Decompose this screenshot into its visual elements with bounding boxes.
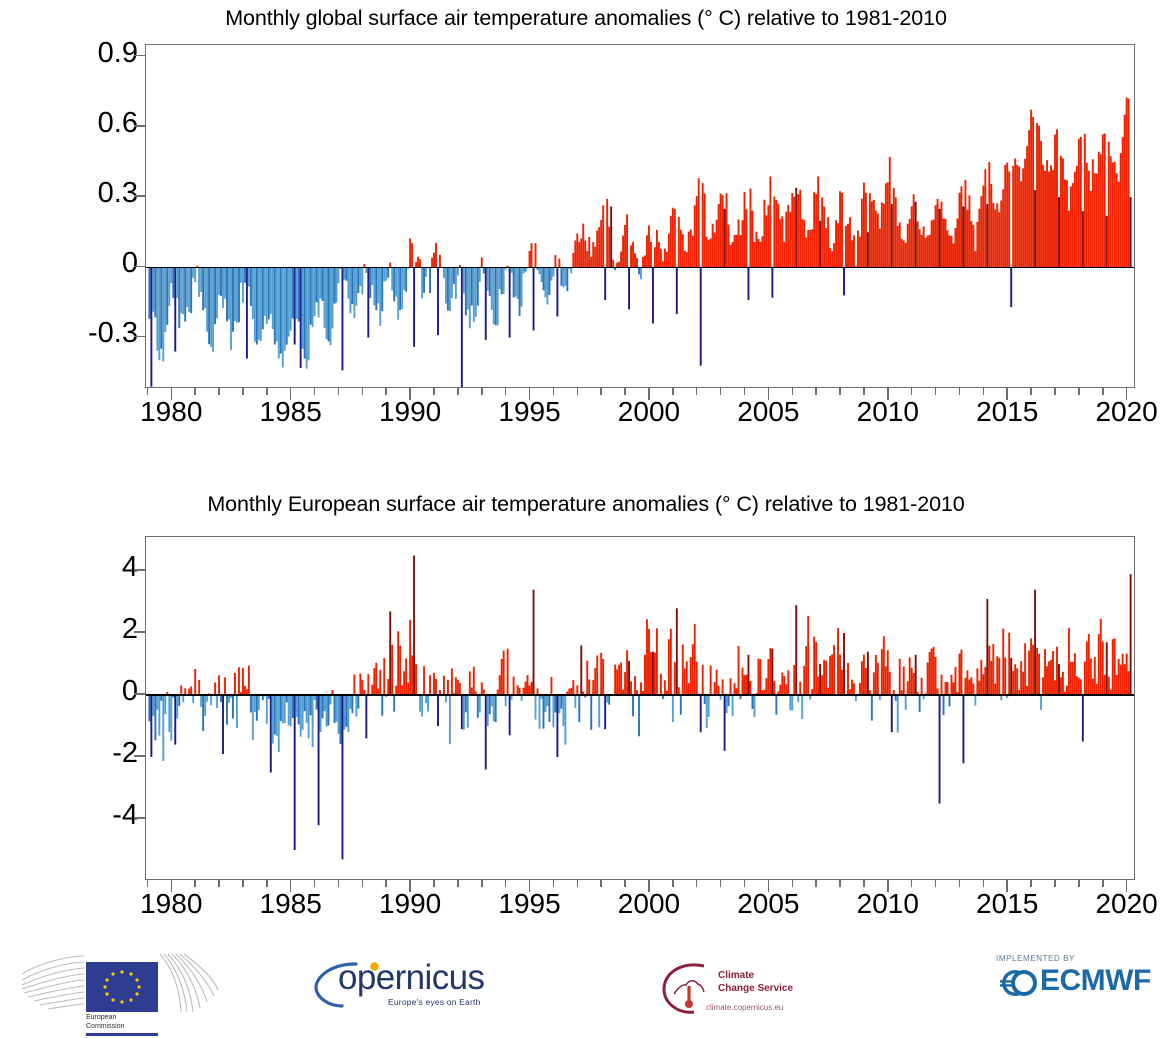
bar xyxy=(626,214,628,267)
bar xyxy=(773,681,775,695)
bar xyxy=(925,238,927,268)
bar xyxy=(449,695,451,744)
bar xyxy=(272,267,274,329)
bar xyxy=(574,240,576,267)
bar xyxy=(1062,158,1064,267)
bar xyxy=(1130,574,1132,695)
bar xyxy=(871,695,873,721)
bar xyxy=(256,267,258,344)
bar xyxy=(953,682,955,695)
bar xyxy=(541,267,543,282)
bar xyxy=(1030,638,1032,695)
global-plot-area xyxy=(145,44,1135,388)
bar xyxy=(1014,664,1016,695)
c3s-url[interactable]: climate.copernicus.eu xyxy=(706,1003,783,1012)
bar xyxy=(990,661,992,695)
bar xyxy=(533,267,535,330)
eu-stars-icon xyxy=(86,962,158,1012)
bar xyxy=(224,267,226,298)
bar xyxy=(889,157,891,267)
bar xyxy=(626,650,628,695)
bar xyxy=(674,209,676,267)
global-xtick-minor xyxy=(457,388,459,395)
europe-xtick-minor xyxy=(385,880,387,887)
bar xyxy=(403,267,405,290)
global-xtick-minor xyxy=(553,388,555,395)
bar xyxy=(939,209,941,268)
bar xyxy=(401,267,403,309)
copernicus-wordmark: opernicus xyxy=(338,958,484,998)
bar xyxy=(336,267,338,302)
bar xyxy=(226,695,228,725)
bar xyxy=(668,233,670,267)
bar xyxy=(481,682,483,695)
bar xyxy=(859,683,861,695)
bar xyxy=(467,695,469,728)
bar xyxy=(1096,174,1098,268)
bar xyxy=(953,243,955,267)
bar xyxy=(1100,154,1102,267)
bar xyxy=(535,695,537,719)
ecmwf-logo: IMPLEMENTED BY ECMWF xyxy=(992,954,1162,1014)
bar xyxy=(306,267,308,368)
bar xyxy=(166,267,168,325)
bar xyxy=(817,677,819,695)
bar xyxy=(188,267,190,312)
bar xyxy=(306,695,308,723)
bar xyxy=(377,267,379,303)
bar xyxy=(775,695,777,715)
bar xyxy=(184,267,186,321)
europe-xtick-minor xyxy=(1078,880,1080,887)
bar xyxy=(857,231,859,268)
bar xyxy=(580,238,582,267)
bar xyxy=(562,267,564,287)
bar xyxy=(576,233,578,267)
europe-ytick-label: -4 xyxy=(0,799,138,832)
bar xyxy=(483,267,485,273)
bar xyxy=(1074,653,1076,695)
bar xyxy=(905,695,907,710)
bar xyxy=(592,680,594,695)
bar xyxy=(604,695,606,729)
bar xyxy=(284,695,286,723)
bar xyxy=(807,230,809,267)
global-xtick-minor xyxy=(600,388,602,395)
bar xyxy=(375,267,377,310)
bar xyxy=(1106,216,1108,267)
bar xyxy=(980,196,982,267)
bar xyxy=(469,671,471,695)
bar xyxy=(887,182,889,267)
bar xyxy=(807,616,809,695)
bar xyxy=(913,194,915,267)
bar xyxy=(421,695,423,716)
bar xyxy=(324,267,326,328)
bar xyxy=(951,236,953,267)
bar xyxy=(949,695,951,706)
europe-xtick-minor xyxy=(338,880,340,887)
bar xyxy=(688,232,690,268)
bar xyxy=(817,177,819,268)
bar xyxy=(650,652,652,695)
bar xyxy=(473,267,475,321)
bar xyxy=(907,224,909,268)
bar xyxy=(513,677,515,696)
bar xyxy=(1060,156,1062,268)
bar xyxy=(793,665,795,695)
bar xyxy=(393,267,395,301)
bar xyxy=(1008,633,1010,695)
bar xyxy=(274,695,276,735)
bar xyxy=(584,241,586,268)
bar xyxy=(312,695,314,747)
bar xyxy=(1062,672,1064,695)
bar xyxy=(620,663,622,696)
bar xyxy=(192,267,194,277)
bar xyxy=(1080,679,1082,695)
global-xtick-minor xyxy=(815,388,817,395)
bar xyxy=(340,695,342,744)
bar xyxy=(545,267,547,297)
bar xyxy=(451,267,453,298)
europe-xtick-minor xyxy=(577,880,579,887)
bar xyxy=(338,695,340,734)
bar xyxy=(228,695,230,703)
bar xyxy=(328,267,330,341)
bar xyxy=(250,267,252,306)
bar xyxy=(535,243,537,267)
bar xyxy=(1058,197,1060,267)
bar xyxy=(236,267,238,322)
europe-ytick-label: 4 xyxy=(0,551,138,584)
bar xyxy=(1052,170,1054,267)
europe-xtick-minor xyxy=(218,880,220,887)
europe-xtick-minor xyxy=(1054,880,1056,887)
bar xyxy=(254,267,256,341)
bar xyxy=(968,679,970,695)
bar xyxy=(903,240,905,267)
europe-plot-inner xyxy=(146,537,1134,879)
bar xyxy=(941,675,943,696)
bar xyxy=(839,654,841,695)
europe-xtick-minor xyxy=(911,880,913,887)
bar xyxy=(1124,664,1126,695)
global-xtick-minor xyxy=(194,388,196,395)
bar xyxy=(600,653,602,695)
bar xyxy=(879,229,881,268)
bar xyxy=(598,695,600,727)
bar xyxy=(654,247,656,267)
bar xyxy=(998,658,1000,695)
global-xtick-minor xyxy=(672,388,674,395)
ecmwf-prefix: IMPLEMENTED BY xyxy=(996,954,1075,963)
bar xyxy=(700,695,702,732)
bar xyxy=(413,556,415,695)
bar xyxy=(443,267,445,278)
bar xyxy=(268,267,270,319)
bar xyxy=(765,678,767,695)
bar xyxy=(411,655,413,695)
bar xyxy=(1038,126,1040,268)
bar xyxy=(485,695,487,769)
bar xyxy=(672,208,674,268)
bar xyxy=(716,670,718,695)
bar xyxy=(742,220,744,267)
bar xyxy=(855,695,857,701)
bar xyxy=(1116,675,1118,695)
bar xyxy=(873,672,875,695)
bar xyxy=(757,659,759,695)
bar xyxy=(266,267,268,324)
ec-flourish-right-icon xyxy=(160,952,218,1014)
bar xyxy=(734,235,736,267)
bar xyxy=(471,267,473,305)
bar xyxy=(389,611,391,695)
bar xyxy=(547,695,549,706)
bar xyxy=(280,695,282,721)
bar xyxy=(499,267,501,289)
bar xyxy=(1016,165,1018,268)
bar xyxy=(660,249,662,268)
bar xyxy=(180,267,182,313)
bar xyxy=(819,221,821,268)
bar xyxy=(198,680,200,695)
bar xyxy=(148,695,150,721)
bar xyxy=(1028,130,1030,267)
bar xyxy=(630,245,632,267)
bar xyxy=(933,647,935,695)
bar xyxy=(186,267,188,307)
european-commission-label: European Commission xyxy=(86,1014,125,1031)
bar xyxy=(365,695,367,738)
bar xyxy=(1068,211,1070,268)
bar xyxy=(909,657,911,695)
bar xyxy=(921,678,923,695)
bar xyxy=(242,267,244,302)
bar xyxy=(461,695,463,729)
bar xyxy=(351,695,353,713)
bar xyxy=(347,267,349,298)
bar xyxy=(282,695,284,723)
bar xyxy=(821,675,823,695)
bar xyxy=(1070,662,1072,695)
europe-xtick-label: 1995 xyxy=(470,888,590,920)
bar xyxy=(769,648,771,695)
bar xyxy=(861,199,863,268)
bar xyxy=(345,267,347,280)
global-ytick-mark xyxy=(134,266,145,268)
bar xyxy=(686,252,688,267)
bar xyxy=(726,695,728,713)
bar xyxy=(548,695,550,722)
bar xyxy=(594,247,596,268)
bar xyxy=(298,267,300,321)
bar xyxy=(503,651,505,696)
bar xyxy=(574,695,576,708)
bar xyxy=(1010,658,1012,695)
bar xyxy=(174,267,176,351)
bar xyxy=(1078,678,1080,695)
bar xyxy=(531,682,533,695)
bar xyxy=(970,677,972,695)
bar xyxy=(905,243,907,268)
bar xyxy=(509,267,511,337)
bar xyxy=(208,267,210,344)
bar xyxy=(278,695,280,752)
bar xyxy=(172,267,174,298)
bar xyxy=(825,661,827,695)
bar xyxy=(590,695,592,730)
europe-xtick-minor xyxy=(266,880,268,887)
bar xyxy=(1056,129,1058,267)
bar xyxy=(913,673,915,695)
bar xyxy=(732,695,734,716)
bar xyxy=(1078,139,1080,268)
bar xyxy=(332,267,334,328)
bar xyxy=(375,663,377,695)
bar xyxy=(206,695,208,702)
c3s-logo: Climate Change Service climate.copernicu… xyxy=(660,952,870,1022)
bar xyxy=(314,267,316,316)
bar xyxy=(1122,137,1124,267)
global-xtick-minor xyxy=(792,388,794,395)
bar xyxy=(728,695,730,706)
bar xyxy=(628,267,630,309)
bar xyxy=(539,695,541,729)
bar xyxy=(517,267,519,299)
bar xyxy=(935,657,937,695)
bar xyxy=(986,204,988,267)
bar xyxy=(1116,173,1118,267)
bar xyxy=(248,267,250,286)
bar xyxy=(966,670,968,695)
copernicus-tagline: Europe's eyes on Earth xyxy=(388,997,481,1007)
global-xtick-label: 2010 xyxy=(828,396,948,428)
europe-xtick-label: 1980 xyxy=(111,888,231,920)
copernicus-logo: opernicus Europe's eyes on Earth xyxy=(312,954,492,1016)
bar xyxy=(453,267,455,284)
bar xyxy=(624,225,626,268)
bar xyxy=(974,695,976,706)
c3s-label-line1: Climate xyxy=(718,970,754,981)
bar xyxy=(881,649,883,695)
bar xyxy=(740,235,742,267)
bar xyxy=(1094,173,1096,267)
bar xyxy=(1022,168,1024,267)
bar xyxy=(214,267,216,324)
bar xyxy=(702,183,704,267)
global-xtick-minor xyxy=(624,388,626,395)
bar xyxy=(722,679,724,695)
bar xyxy=(232,695,234,718)
bar xyxy=(815,194,817,268)
bar xyxy=(1100,619,1102,695)
bar xyxy=(684,251,686,268)
europe-xtick-minor xyxy=(194,880,196,887)
bar xyxy=(170,695,172,741)
bar xyxy=(921,235,923,268)
global-xtick-minor xyxy=(839,388,841,395)
bar xyxy=(821,197,823,267)
bar xyxy=(250,695,252,712)
bar xyxy=(947,682,949,695)
bar xyxy=(833,645,835,695)
europe-ytick-mark xyxy=(134,569,145,571)
bar xyxy=(359,674,361,696)
bar xyxy=(369,267,371,298)
ec-label-line1: European xyxy=(86,1014,125,1023)
europe-xtick-minor xyxy=(696,880,698,887)
bar xyxy=(523,267,525,273)
global-chart-title: Monthly global surface air temperature a… xyxy=(0,6,1172,31)
bar xyxy=(288,267,290,336)
bar xyxy=(1040,141,1042,267)
bar xyxy=(162,267,164,361)
bar xyxy=(288,695,290,725)
global-ytick-mark xyxy=(134,125,145,127)
bar xyxy=(883,204,885,268)
bar xyxy=(891,204,893,267)
bar xyxy=(996,203,998,267)
bar xyxy=(234,267,236,321)
bar xyxy=(915,655,917,695)
bar xyxy=(986,599,988,695)
bar xyxy=(160,267,162,348)
bar xyxy=(1112,639,1114,695)
global-xtick-label: 1985 xyxy=(231,396,351,428)
bar xyxy=(296,695,298,717)
bar xyxy=(863,183,865,268)
bar xyxy=(154,267,156,317)
global-xtick-minor xyxy=(505,388,507,395)
bar xyxy=(552,267,554,276)
bar xyxy=(765,215,767,267)
bar xyxy=(1056,647,1058,695)
bar xyxy=(670,216,672,268)
bar xyxy=(845,226,847,267)
bar xyxy=(608,227,610,268)
bar xyxy=(477,695,479,718)
bar xyxy=(395,267,397,296)
bar xyxy=(586,251,588,267)
europe-xtick-minor xyxy=(983,880,985,887)
bar xyxy=(379,670,381,695)
bar xyxy=(757,239,759,267)
bar xyxy=(318,267,320,317)
bar xyxy=(548,267,550,295)
bar xyxy=(1092,159,1094,267)
ecmwf-wordmark: ECMWF xyxy=(1040,964,1151,998)
bar xyxy=(897,226,899,267)
bar xyxy=(252,267,254,319)
bar xyxy=(503,267,505,294)
bar xyxy=(320,695,322,732)
bar xyxy=(347,695,349,732)
bar xyxy=(648,629,650,695)
bar xyxy=(262,695,264,700)
bar xyxy=(945,219,947,267)
bar xyxy=(429,267,431,293)
bar xyxy=(1004,658,1006,695)
bar xyxy=(383,658,385,695)
bar xyxy=(1080,137,1082,267)
bar xyxy=(1084,134,1086,268)
bar xyxy=(682,645,684,696)
bar xyxy=(1092,678,1094,695)
bar xyxy=(582,224,584,268)
bar xyxy=(622,236,624,268)
